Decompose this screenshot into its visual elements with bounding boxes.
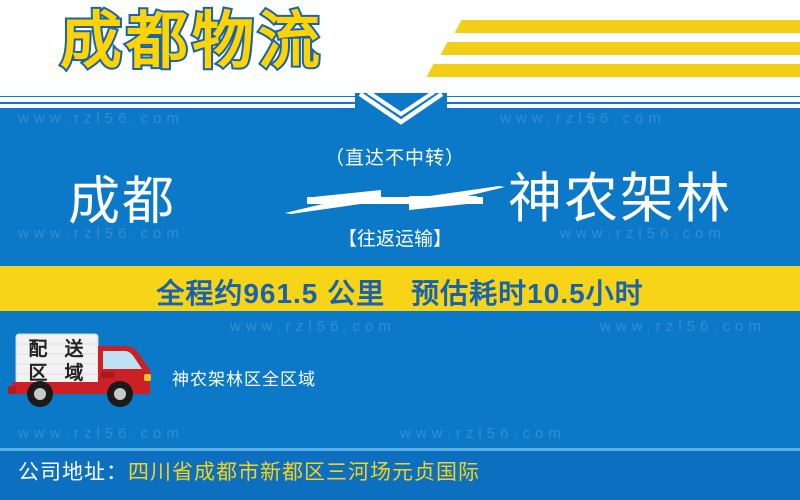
delivery-area-text: 神农架林区全区域 [172, 365, 316, 390]
destination-city: 神农架林 [508, 172, 732, 226]
metrics-text: 全程约961.5 公里预估耗时10.5小时 [0, 272, 800, 312]
company-address-value: 四川省成都市新都区三河场元贞国际 [128, 461, 480, 484]
stripe-2 [441, 42, 800, 55]
distance-text: 全程约961.5 公里 [156, 278, 385, 309]
origin-city: 成都 [68, 176, 176, 228]
watermark-8: www.rzl56.com [400, 425, 566, 442]
page-title: 成都物流 [60, 3, 324, 81]
duration-text: 预估耗时10.5小时 [411, 278, 644, 309]
stripe-3 [427, 64, 800, 77]
stripe-1 [455, 20, 800, 33]
watermark-5: www.rzl56.com [230, 318, 396, 335]
company-address-label: 公司地址： [18, 461, 128, 484]
double-headed-arrow-icon [285, 180, 505, 220]
watermark-6: www.rzl56.com [600, 318, 766, 335]
direct-service-note: （直达不中转） [295, 143, 495, 170]
decorative-stripes [400, 0, 800, 96]
logistics-banner: 成都物流 成都 神农架林 （直达不中转） 【往返运输】 全程约961.5 公里预… [0, 0, 800, 500]
watermark-7: www.rzl56.com [18, 425, 184, 442]
chevron-down-icon [358, 92, 444, 126]
roundtrip-service-note: 【往返运输】 [295, 224, 495, 251]
watermark-2: www.rzl56.com [500, 110, 666, 127]
company-address: 公司地址：四川省成都市新都区三河场元贞国际 [18, 462, 480, 483]
delivery-truck-icon [8, 330, 160, 408]
watermark-1: www.rzl56.com [18, 110, 184, 127]
banner-header: 成都物流 [0, 0, 800, 96]
